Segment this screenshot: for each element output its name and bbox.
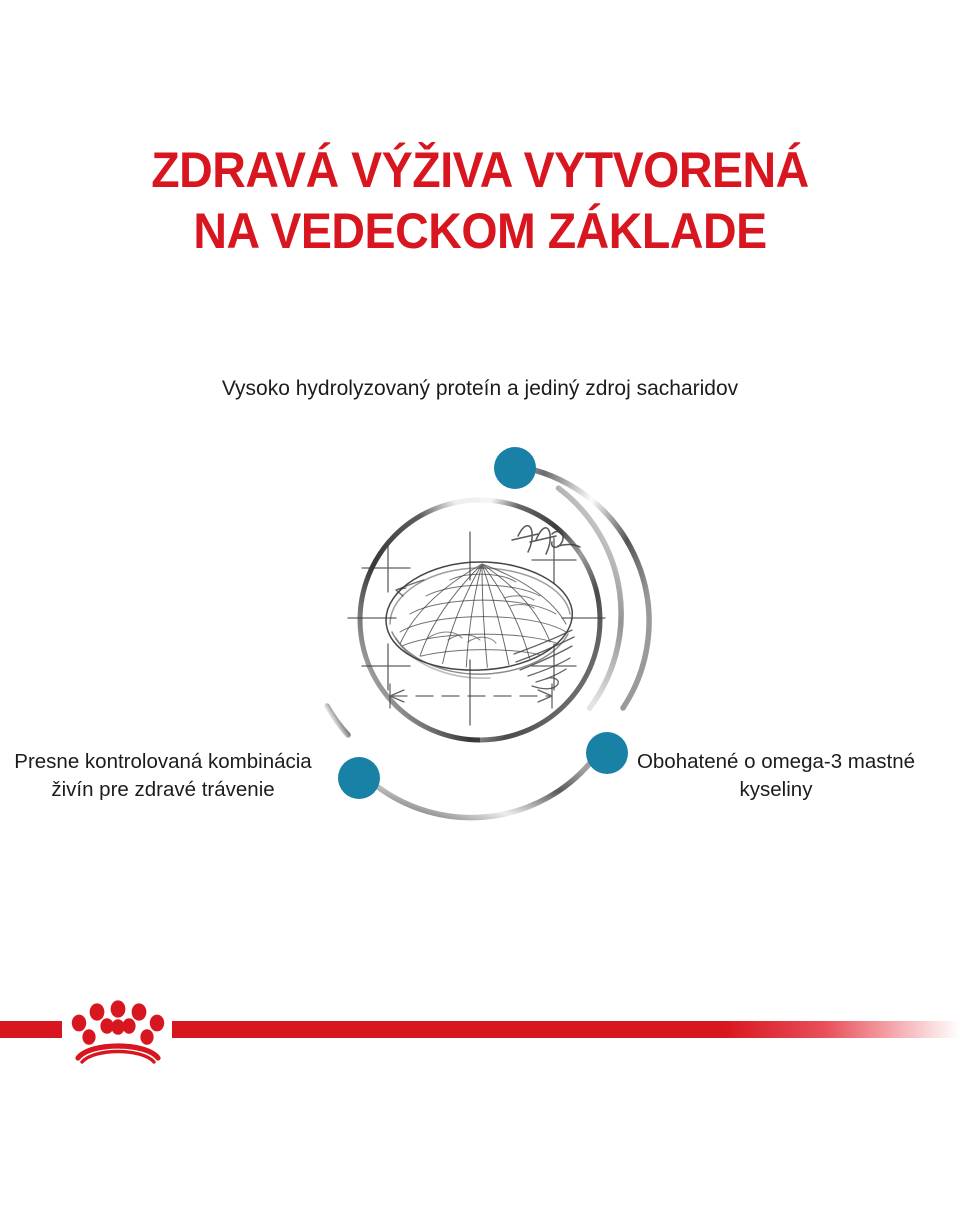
caption-top-protein: Vysoko hydrolyzovaný proteín a jediný zd…: [180, 374, 780, 404]
node-dot-bottom-left: [338, 757, 380, 799]
brand-bar-left-segment: [0, 1021, 62, 1038]
node-dot-bottom-right: [586, 732, 628, 774]
crown-dots: [72, 1000, 164, 1044]
page-title-line-2: NA VEDECKOM ZÁKLADE: [34, 201, 927, 262]
dimension-line: [390, 684, 552, 708]
page-title: ZDRAVÁ VÝŽIVA VYTVORENÁ NA VEDECKOM ZÁKL…: [34, 140, 927, 262]
node-dot-top: [494, 447, 536, 489]
royal-canin-crown-logo: [62, 996, 174, 1064]
crown-arcs: [78, 1046, 158, 1062]
page-title-line-1: ZDRAVÁ VÝŽIVA VYTVORENÁ: [34, 140, 927, 201]
kibble-parallels: [398, 574, 568, 662]
caption-left-digestion: Presne kontrolovaná kombinácia živín pre…: [8, 748, 318, 805]
kibble-circle-graphic: [300, 440, 660, 800]
brand-bar-right-segment: [172, 1021, 960, 1038]
caption-right-omega3: Obohatené o omega-3 mastné kyseliny: [636, 748, 916, 805]
